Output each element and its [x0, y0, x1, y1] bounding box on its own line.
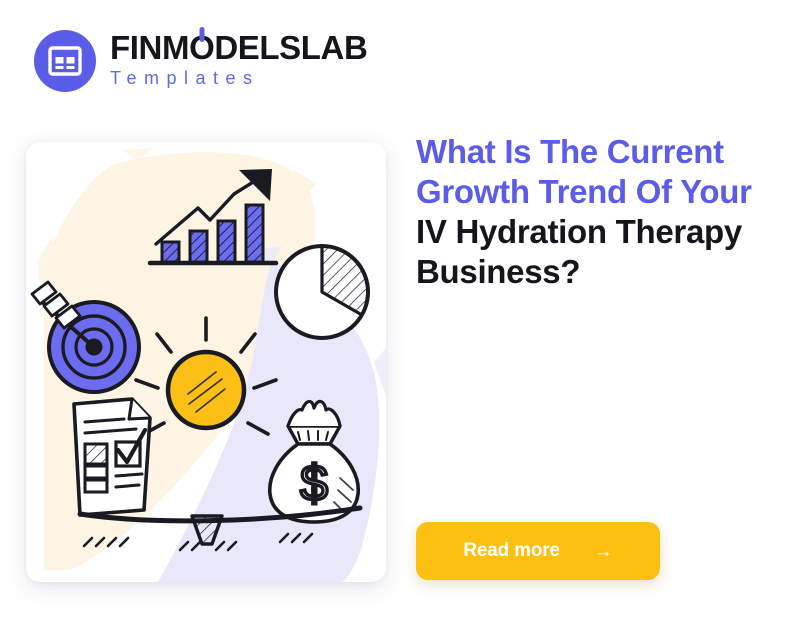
read-more-button[interactable]: Read more → [416, 522, 660, 580]
svg-text:$: $ [300, 455, 328, 511]
brand-subtitle: Templates [110, 65, 367, 91]
headline-topic: IV Hydration Therapy Business? [416, 212, 780, 292]
business-growth-illustration: $ [26, 142, 386, 582]
pie-chart [276, 246, 368, 338]
checklist-document [74, 399, 150, 515]
brand-name-o: O [189, 31, 214, 65]
brand-name-part2: DELSLAB [214, 29, 367, 66]
chart-bar [190, 231, 207, 262]
brand-text: FINMODELSLAB Templates [110, 31, 367, 92]
arrow-right-icon: → [594, 542, 613, 561]
brand-name-part1: FINM [110, 29, 189, 66]
headline-block: What Is The Current Growth Trend Of Your… [416, 132, 780, 292]
brand-logo[interactable]: FINMODELSLAB Templates [34, 30, 367, 92]
headline-question: What Is The Current Growth Trend Of Your [416, 133, 752, 210]
chart-bar [246, 205, 263, 262]
gold-coin-disc [168, 352, 244, 428]
chart-bar [162, 242, 179, 262]
promo-banner: FINMODELSLAB Templates [0, 0, 800, 618]
page-title: What Is The Current Growth Trend Of Your… [416, 132, 780, 292]
chart-bar [218, 221, 235, 262]
brand-name: FINMODELSLAB [110, 31, 367, 65]
grid-squares-icon [34, 30, 96, 92]
read-more-label: Read more [463, 540, 559, 562]
illustration-card: $ [26, 142, 386, 582]
